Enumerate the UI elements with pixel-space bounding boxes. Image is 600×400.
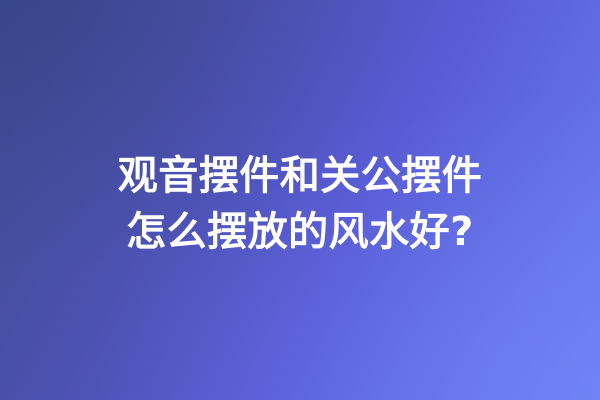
page-title: 观音摆件和关公摆件 怎么摆放的风水好? (0, 148, 600, 260)
page-title-line-2: 怎么摆放的风水好? (0, 204, 600, 260)
page-title-line-1: 观音摆件和关公摆件 (0, 148, 600, 204)
article-title-banner: 观音摆件和关公摆件 怎么摆放的风水好? (0, 0, 600, 400)
